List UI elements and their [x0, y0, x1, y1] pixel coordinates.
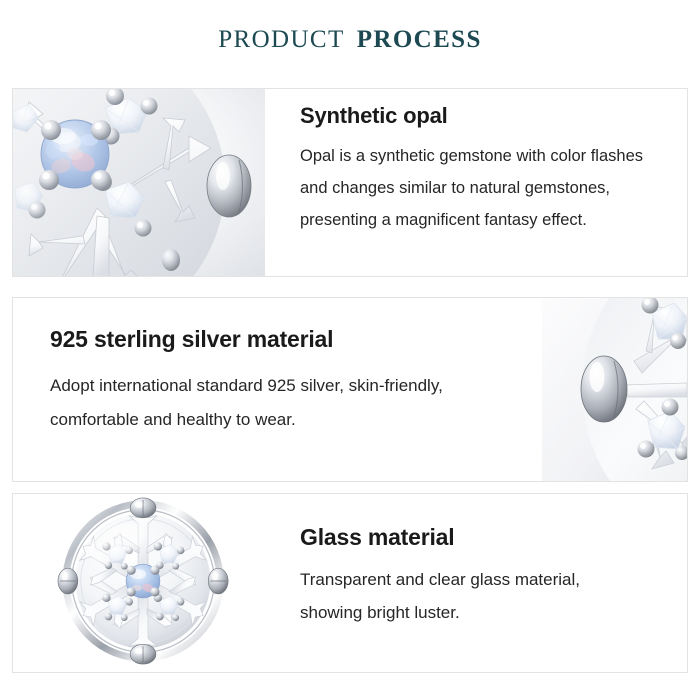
product-image-sterling-silver — [542, 298, 687, 481]
feature-text-glass-material: Glass material Transparent and clear gla… — [289, 494, 687, 672]
feature-text-synthetic-opal: Synthetic opal Opal is a synthetic gemst… — [287, 89, 687, 276]
section-body: Adopt international standard 925 silver,… — [50, 369, 530, 437]
page-title: PRODUCTPROCESS — [0, 0, 700, 54]
silver-rim-macro-artwork — [542, 298, 687, 481]
page-title-bold: PROCESS — [357, 26, 482, 53]
section-heading: Glass material — [300, 524, 667, 551]
full-charm-artwork — [13, 494, 281, 672]
feature-panel-glass-material: Glass material Transparent and clear gla… — [12, 493, 688, 673]
section-body: Transparent and clear glass material, sh… — [300, 563, 630, 629]
section-body: Opal is a synthetic gemstone with color … — [300, 140, 667, 237]
section-heading: 925 sterling silver material — [50, 326, 537, 353]
section-heading: Synthetic opal — [300, 103, 667, 129]
product-image-glass-material — [13, 494, 281, 672]
feature-panel-sterling-silver: 925 sterling silver material Adopt inter… — [12, 297, 688, 482]
feature-text-sterling-silver: 925 sterling silver material Adopt inter… — [13, 298, 537, 481]
feature-panel-synthetic-opal: Synthetic opal Opal is a synthetic gemst… — [12, 88, 688, 277]
product-image-synthetic-opal — [13, 89, 265, 276]
opal-macro-artwork — [13, 89, 265, 276]
page-title-regular: PRODUCT — [218, 26, 345, 53]
